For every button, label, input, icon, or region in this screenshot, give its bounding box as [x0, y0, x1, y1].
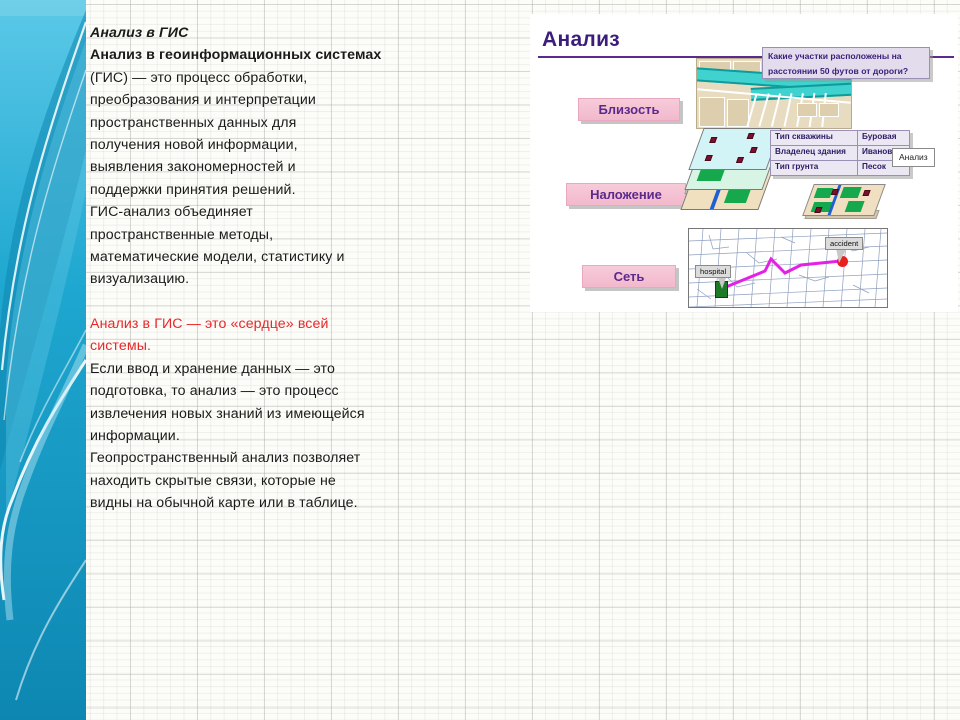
- text-line: пространственных данных для: [90, 112, 430, 134]
- table-row: Владелец здания Иванов: [771, 146, 909, 161]
- text-line: ГИС-анализ объединяет: [90, 201, 430, 223]
- label-overlay: Наложение: [566, 183, 686, 206]
- text-line: Анализ в геоинформационных системах: [90, 44, 430, 66]
- text-line: информации.: [90, 425, 430, 447]
- callout-hospital: hospital: [695, 265, 731, 278]
- callout-accident: accident: [825, 237, 863, 250]
- sidebar-artwork: [0, 0, 86, 720]
- attr-field: Тип скважины: [771, 131, 858, 145]
- decorative-sidebar: [0, 0, 86, 720]
- text-line: видны на обычной карте или в таблице.: [90, 492, 430, 514]
- tooltip-analiz: Анализ: [892, 148, 935, 167]
- attr-field: Тип грунта: [771, 161, 858, 175]
- network-map-image: accident hospital: [688, 228, 888, 308]
- attr-field: Владелец здания: [771, 146, 858, 160]
- label-network: Сеть: [582, 265, 676, 288]
- text-line: математические модели, статистику и: [90, 246, 430, 268]
- callout-question-line1: Какие участки расположены на: [763, 48, 929, 63]
- attribute-table: Тип скважины Буровая Владелец здания Ива…: [770, 130, 910, 176]
- overlay-result-illustration: [808, 172, 882, 222]
- highlight-text-line: системы.: [90, 335, 430, 357]
- text-line: пространственные методы,: [90, 224, 430, 246]
- callout-question-line2: расстоянии 50 футов от дороги?: [763, 63, 929, 78]
- text-line: Геопространственный анализ позволяет: [90, 447, 430, 469]
- text-line: находить скрытые связи, которые не: [90, 470, 430, 492]
- callout-cone-accident: [834, 248, 846, 263]
- highlight-text-line: Анализ в ГИС — это «сердце» всей: [90, 313, 430, 335]
- table-row: Тип скважины Буровая: [771, 131, 909, 146]
- text-line: подготовка, то анализ — это процесс: [90, 380, 430, 402]
- text-line: поддержки принятия решений.: [90, 179, 430, 201]
- layer-points: [688, 128, 781, 170]
- text-line: преобразования и интерпретации: [90, 89, 430, 111]
- text-line: Анализ в ГИС: [90, 22, 430, 44]
- table-row: Тип грунта Песок: [771, 161, 909, 175]
- paragraph-gap: [90, 291, 430, 313]
- text-line: визуализацию.: [90, 268, 430, 290]
- attr-value: Буровая: [858, 131, 909, 145]
- text-line: Если ввод и хранение данных — это: [90, 358, 430, 380]
- text-line: (ГИС) — это процесс обработки,: [90, 67, 430, 89]
- label-proximity: Близость: [578, 98, 680, 121]
- text-line: выявления закономерностей и: [90, 156, 430, 178]
- text-line: получения новой информации,: [90, 134, 430, 156]
- text-line: извлечения новых знаний из имеющейся: [90, 403, 430, 425]
- mini-basemap: [802, 184, 886, 216]
- slide-title: Анализ: [542, 28, 620, 52]
- slide-image-panel: Анализ Близость Какие участки расположен…: [530, 14, 958, 312]
- callout-question-box: Какие участки расположены на расстоянии …: [762, 47, 930, 79]
- body-text-column: Анализ в ГИС Анализ в геоинформационных …: [90, 22, 430, 515]
